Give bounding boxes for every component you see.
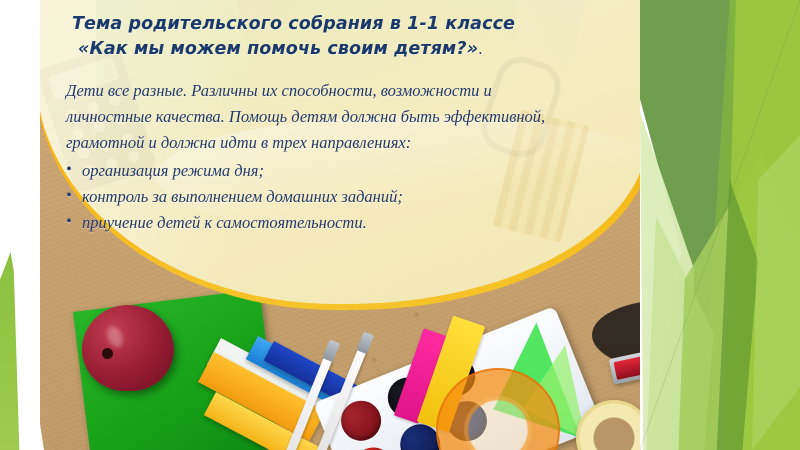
slide-title: Тема родительского собрания в 1-1 классе… [72, 12, 580, 62]
slide-body: Дети все разные. Различны их способности… [66, 78, 580, 236]
list-item: организация режима дня; [66, 158, 580, 184]
body-bullet-list: организация режима дня; контроль за выпо… [66, 158, 580, 236]
title-trailing-punctuation: . [478, 40, 483, 58]
title-line-1: Тема родительского собрания в 1-1 классе [72, 14, 515, 34]
list-item: приучение детей к самостоятельности. [66, 210, 580, 236]
apple-stem [102, 348, 113, 359]
presentation-slide: Тема родительского собрания в 1-1 классе… [0, 0, 800, 450]
body-paragraph: Дети все разные. Различны их способности… [66, 78, 580, 156]
title-line-2: «Как мы можем помочь своим детям?» [78, 39, 478, 59]
facet-hairline [640, 0, 800, 450]
list-item: контроль за выполнением домашних заданий… [66, 184, 580, 210]
faceted-green-shapes [640, 0, 800, 450]
red-apple [82, 305, 174, 391]
slide-text-block: Тема родительского собрания в 1-1 классе… [60, 12, 580, 236]
paint-pan-red [347, 441, 399, 450]
title-line-2-wrap: «Как мы можем помочь своим детям?». [78, 37, 580, 62]
